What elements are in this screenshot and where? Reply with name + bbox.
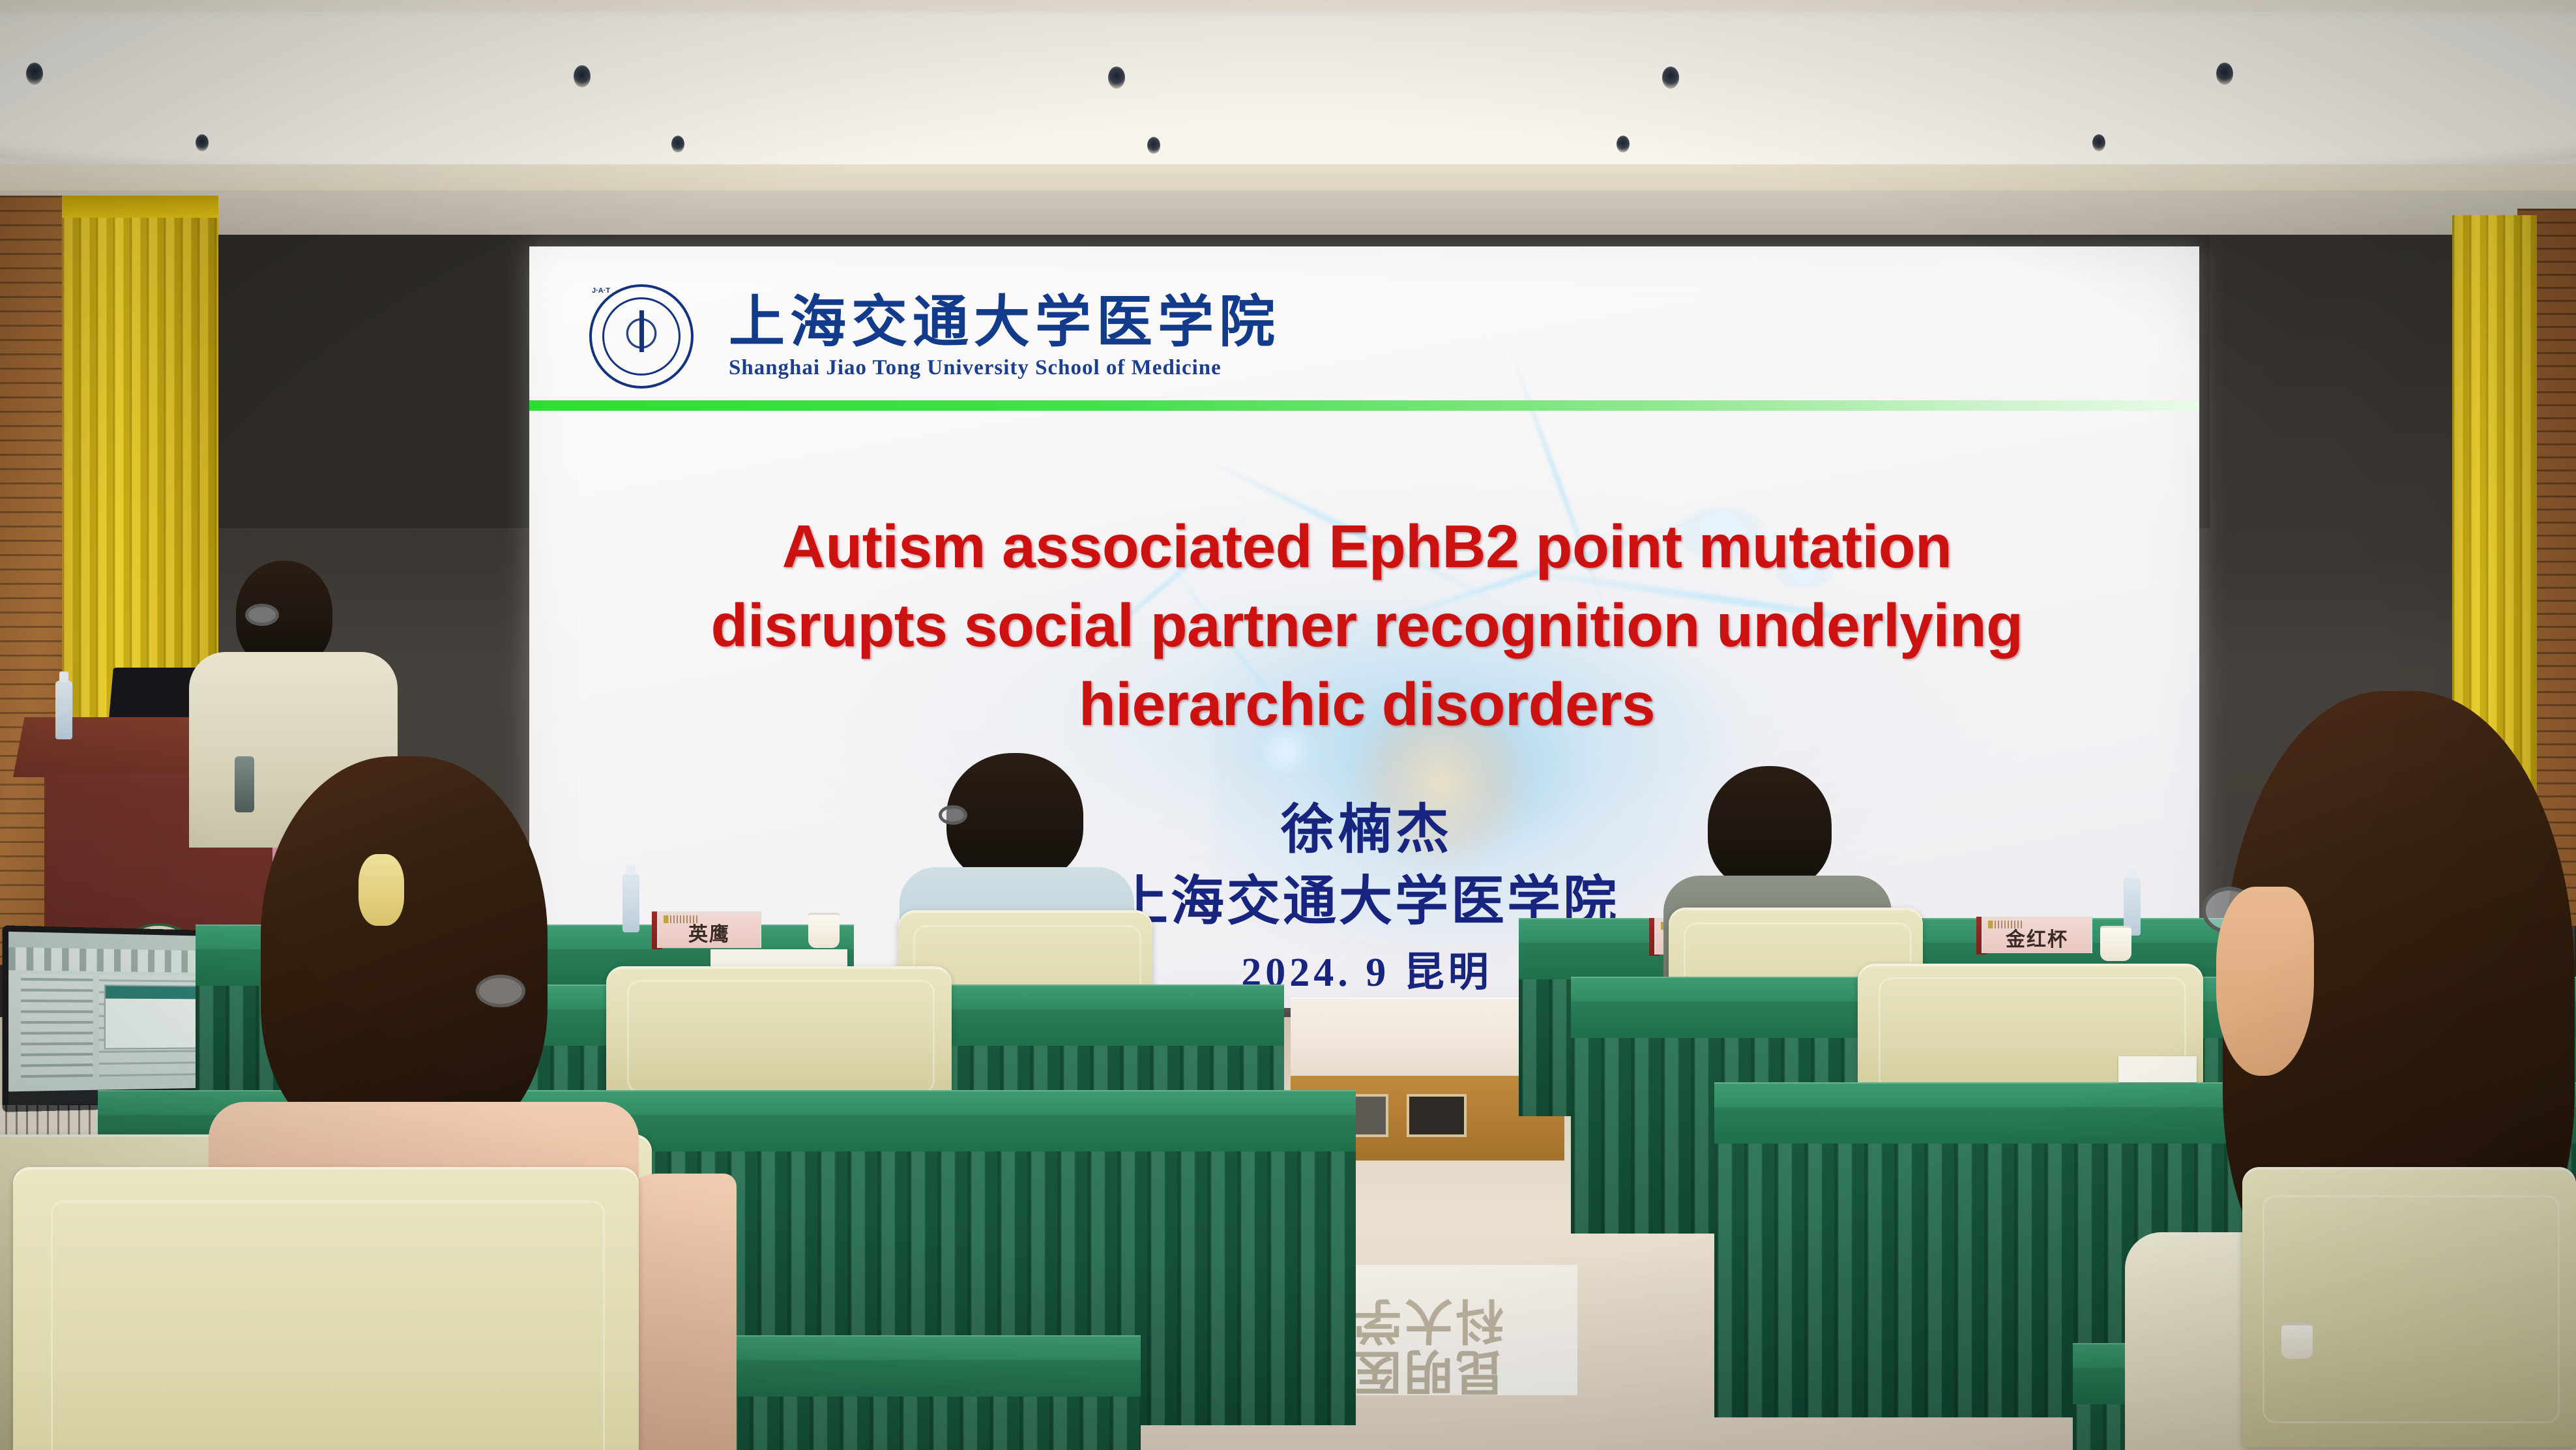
slide-title-line-1: Autism associated EphB2 point mutation [614, 507, 2120, 586]
ceiling-downlight [1662, 67, 1679, 89]
ceiling-downlight [671, 136, 684, 153]
water-bottle-left-table [622, 874, 639, 932]
slide-title: Autism associated EphB2 point mutation d… [614, 507, 2120, 744]
laptop-screen-sidepane [21, 973, 93, 1078]
logo-institution-en: Shanghai Jiao Tong University School of … [729, 356, 1280, 380]
slide-title-line-3: hierarchic disorders [614, 665, 2120, 744]
seal-ring-text: J·A·T [592, 287, 691, 386]
name-placard-left: 英鹰 [657, 911, 761, 948]
ceiling-soffit [0, 190, 2576, 240]
paper-cup-left-table [808, 913, 840, 948]
paper-cup-right-table [2100, 926, 2131, 961]
ceiling-downlight [1108, 67, 1125, 89]
slide-header: J·A·T 上海交通大学医学院 Shanghai Jiao Tong Unive… [529, 246, 2199, 413]
university-seal-icon: J·A·T [589, 284, 694, 389]
ceiling-downlight [1147, 137, 1160, 154]
ceiling-downlight [1617, 136, 1630, 153]
curtain-valance [62, 196, 218, 218]
slide-title-line-2: disrupts social partner recognition unde… [614, 586, 2120, 665]
attendee-hair [261, 756, 548, 1147]
ceiling-downlight [26, 63, 43, 85]
paper-cup-foreground-right [2281, 1324, 2313, 1359]
name-placard-right: 金红杯 [1982, 917, 2092, 953]
placard-logo-icon [1988, 921, 2022, 928]
attendee-glasses-icon [476, 975, 525, 1007]
attendee-face [2216, 887, 2314, 1076]
ceiling-downlight [2216, 63, 2233, 85]
attendee-head [1708, 766, 1832, 890]
chair-foreground-right[interactable] [2242, 1167, 2576, 1447]
ceiling-downlight [196, 134, 209, 151]
lecture-hall-photo: J·A·T 上海交通大学医学院 Shanghai Jiao Tong Unive… [0, 0, 2576, 1450]
speaker-glasses-icon [245, 604, 279, 626]
chair-mid-left[interactable] [606, 966, 952, 1103]
chair-foreground-left-back[interactable] [13, 1167, 639, 1450]
floor-socket-right [1407, 1094, 1467, 1137]
slide-accent-rule [529, 400, 2199, 411]
papers-right-table [2118, 1056, 2197, 1082]
ceiling-downlight [2092, 134, 2105, 151]
logo-institution-cn: 上海交通大学医学院 [729, 293, 1280, 351]
ceiling-downlight [574, 65, 591, 87]
attendee-head [946, 753, 1083, 883]
placard-logo-icon [664, 915, 697, 923]
hair-clip-icon [359, 854, 404, 926]
water-bottle-podium [55, 681, 72, 739]
attendee-glasses-icon [939, 805, 967, 825]
university-logo: J·A·T 上海交通大学医学院 Shanghai Jiao Tong Unive… [589, 284, 1280, 389]
projection-screen: J·A·T 上海交通大学医学院 Shanghai Jiao Tong Unive… [529, 246, 2199, 1008]
presenter-name: 徐楠杰 [614, 794, 2120, 866]
